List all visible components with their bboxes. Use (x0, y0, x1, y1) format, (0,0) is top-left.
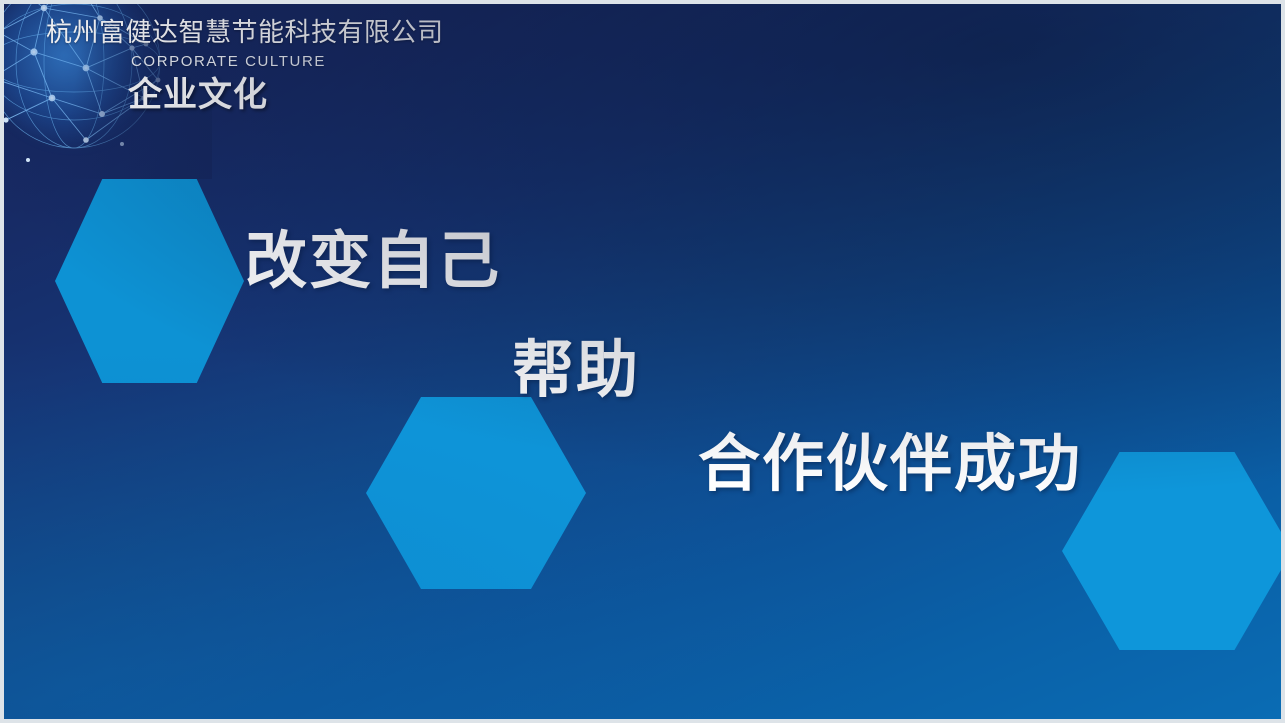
slide-subtitle-english: CORPORATE CULTURE (131, 52, 326, 72)
hexagon-2 (366, 397, 586, 589)
statement-change-self: 改变自己 (245, 231, 501, 293)
company-name: 杭州富健达智慧节能科技有限公司 (46, 16, 444, 48)
hexagon-3 (1062, 452, 1281, 650)
statement-help: 帮助 (512, 340, 640, 402)
presentation-slide: 杭州富健达智慧节能科技有限公司 CORPORATE CULTURE 企业文化 改… (0, 0, 1285, 723)
statement-partner-success: 合作伙伴成功 (698, 434, 1082, 496)
slide-background: 杭州富健达智慧节能科技有限公司 CORPORATE CULTURE 企业文化 改… (4, 4, 1281, 719)
slide-title: 企业文化 (128, 74, 268, 116)
hexagon-1 (55, 179, 244, 383)
